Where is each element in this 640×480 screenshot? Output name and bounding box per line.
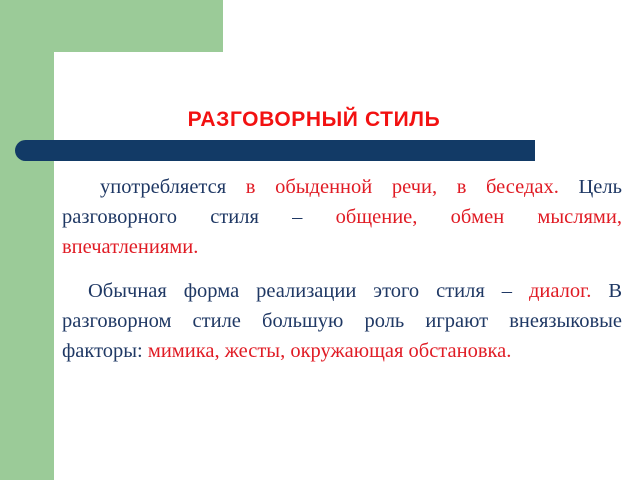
green-top-band <box>0 0 223 52</box>
run-p2-4: мимика, жесты, окружающая обстановка. <box>148 340 512 362</box>
navy-accent-bar <box>15 140 535 161</box>
run-p1-2: в обыденной речи, в беседах. <box>246 176 579 198</box>
slide-title: РАЗГОВОРНЫЙ СТИЛЬ <box>54 108 574 131</box>
green-left-panel <box>0 0 54 480</box>
run-p2-1: Обычная форма реализации этого стиля – <box>88 280 529 302</box>
slide-body: употребляется в обыденной речи, в беседа… <box>62 172 622 366</box>
run-p2-2: диалог. <box>529 280 608 302</box>
run-p1-1: употребляется <box>100 176 246 198</box>
presentation-slide: РАЗГОВОРНЫЙ СТИЛЬ употребляется в обыден… <box>0 0 640 480</box>
paragraph-2: Обычная форма реализации этого стиля – д… <box>62 276 622 366</box>
paragraph-1: употребляется в обыденной речи, в беседа… <box>62 172 622 262</box>
